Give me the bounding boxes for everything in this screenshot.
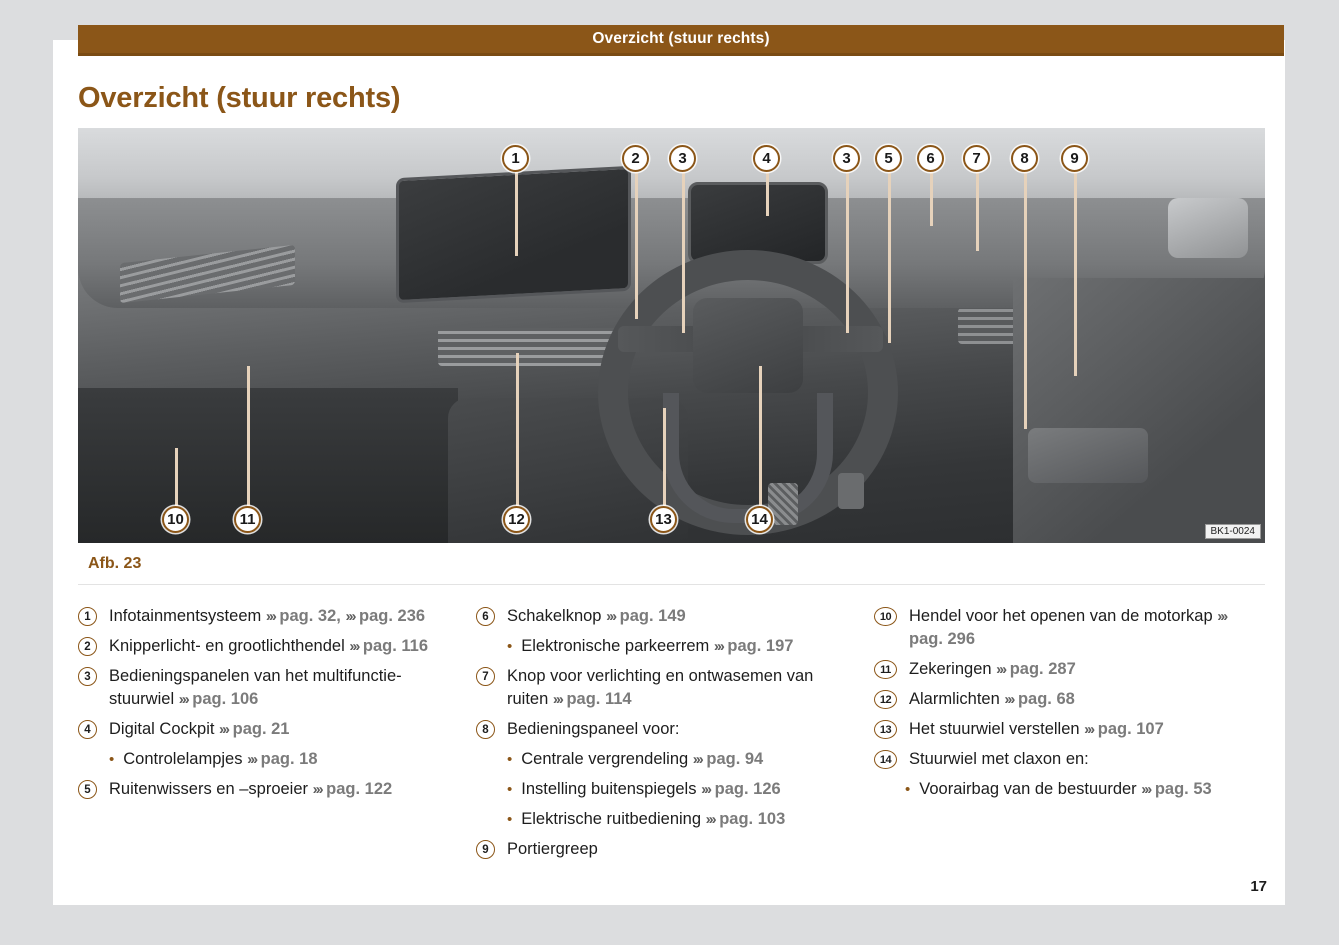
legend-sub-item-text: Instelling buitenspiegels ››› pag. 126 [521, 778, 780, 801]
figure-caption-text: Afb. 23 [78, 555, 141, 573]
legend-text: Hendel voor het openen van de motorkap [909, 607, 1217, 625]
legend-item-number: 8 [476, 720, 495, 739]
reference-arrows-icon: ››› [714, 638, 723, 655]
legend-text: Portiergreep [507, 840, 598, 858]
callout-bubble: 2 [622, 145, 649, 172]
callout-stem [247, 366, 250, 506]
page-reference: pag. 114 [562, 690, 632, 708]
running-header-bar: Overzicht (stuur rechts) [78, 25, 1284, 56]
manual-page: Overzicht (stuur rechts) Overzicht (stuu… [53, 40, 1285, 905]
legend-item-text: Alarmlichten ››› pag. 68 [909, 688, 1075, 711]
bullet-icon: • [109, 748, 114, 771]
reference-arrows-icon: ››› [349, 638, 358, 655]
callout-stem [663, 408, 666, 506]
page-title: Overzicht (stuur rechts) [78, 82, 400, 115]
callout-bubble: 4 [753, 145, 780, 172]
legend-column-3: 10Hendel voor het openen van de motorkap… [874, 605, 1272, 868]
callout-stem [515, 171, 518, 256]
legend-sub-item: •Controlelampjes ››› pag. 18 [109, 748, 458, 771]
legend-item-text: Hendel voor het openen van de motorkap ›… [909, 605, 1254, 651]
legend-text: Schakelknop [507, 607, 606, 625]
callout-stem [1024, 171, 1027, 429]
callout-bubble: 3 [669, 145, 696, 172]
reference-arrows-icon: ››› [247, 751, 256, 768]
legend-text: Het stuurwiel verstellen [909, 720, 1084, 738]
legend-item-text: Ruitenwissers en –sproeier ››› pag. 122 [109, 778, 392, 801]
page-reference: pag. 149 [615, 607, 686, 625]
illustration-code-label: BK1-0024 [1205, 524, 1261, 539]
legend-text: Controlelampjes [123, 750, 247, 768]
callout-bubble: 12 [503, 506, 530, 533]
legend-text: Digital Cockpit [109, 720, 219, 738]
legend-sub-item: •Voorairbag van de bestuurder ››› pag. 5… [905, 778, 1254, 801]
page-reference: pag. 68 [1013, 690, 1074, 708]
legend-text: Alarmlichten [909, 690, 1004, 708]
legend-item-text: Infotainmentsysteem ››› pag. 32, ››› pag… [109, 605, 425, 628]
callout-bubble: 10 [162, 506, 189, 533]
legend-item: 14Stuurwiel met claxon en: [874, 748, 1254, 771]
legend-item-number: 7 [476, 667, 495, 686]
reference-arrows-icon: ››› [701, 781, 710, 798]
legend-item-text: Stuurwiel met claxon en: [909, 748, 1089, 771]
callout-bubble: 1 [502, 145, 529, 172]
callout-bubble: 9 [1061, 145, 1088, 172]
legend-item-number: 10 [874, 607, 897, 626]
page-reference: pag. 106 [188, 690, 259, 708]
steering-wheel-lower-spoke-shape [663, 393, 833, 523]
callout-stem [682, 171, 685, 333]
callout-stem [635, 171, 638, 319]
running-header-title: Overzicht (stuur rechts) [592, 30, 769, 48]
callout-stem [759, 366, 762, 506]
callout-stem [930, 171, 933, 226]
callout-stem [846, 171, 849, 333]
figure-caption: Afb. 23 [78, 543, 1265, 585]
legend-text: Elektronische parkeerrem [521, 637, 714, 655]
page-reference: pag. 94 [702, 750, 763, 768]
legend-item-text: Het stuurwiel verstellen ››› pag. 107 [909, 718, 1164, 741]
legend-item-number: 11 [874, 660, 897, 679]
legend-text: Ruitenwissers en –sproeier [109, 780, 313, 798]
legend-text: Voorairbag van de bestuurder [919, 780, 1141, 798]
reference-arrows-icon: ››› [693, 751, 702, 768]
bullet-icon: • [507, 778, 512, 801]
legend-item-number: 13 [874, 720, 897, 739]
callout-bubble: 6 [917, 145, 944, 172]
reference-arrows-icon: ››› [313, 781, 322, 798]
callout-stem [766, 171, 769, 216]
door-control-panel-shape [1028, 428, 1148, 483]
bullet-icon: • [905, 778, 910, 801]
callout-bubble: 13 [650, 506, 677, 533]
legend-item: 3Bedieningspanelen van het multifunctie-… [78, 665, 458, 711]
legend-item: 7Knop voor verlichting en ontwasemen van… [476, 665, 856, 711]
reference-arrows-icon: ››› [553, 691, 562, 708]
door-panel-shape [1013, 278, 1265, 543]
steering-wheel-hub-shape [693, 298, 803, 393]
legend-item: 11Zekeringen ››› pag. 287 [874, 658, 1254, 681]
legend-sub-item: •Elektrische ruitbediening ››› pag. 103 [507, 808, 856, 831]
reference-arrows-icon: ››› [219, 721, 228, 738]
page-reference: pag. 103 [715, 810, 786, 828]
page-reference: pag. 21 [228, 720, 289, 738]
legend-item: 5Ruitenwissers en –sproeier ››› pag. 122 [78, 778, 458, 801]
figure: 1 2 3 4 3 5 6 [78, 128, 1265, 585]
legend-column-1: 1Infotainmentsysteem ››› pag. 32, ››› pa… [78, 605, 476, 868]
pedal-shape [838, 473, 864, 509]
page-reference: pag. 122 [322, 780, 393, 798]
legend-item-text: Bedieningspanelen van het multifunctie-s… [109, 665, 458, 711]
legend-item-number: 4 [78, 720, 97, 739]
callout-bubble: 8 [1011, 145, 1038, 172]
legend-sub-item-text: Controlelampjes ››› pag. 18 [123, 748, 317, 771]
legend-text: Instelling buitenspiegels [521, 780, 701, 798]
legend-column-2: 6Schakelknop ››› pag. 149•Elektronische … [476, 605, 874, 868]
legend-item-text: Portiergreep [507, 838, 598, 861]
legend-item-number: 12 [874, 690, 897, 709]
legend-item-number: 3 [78, 667, 97, 686]
footwell-shape [78, 388, 458, 543]
legend-sub-item: •Elektronische parkeerrem ››› pag. 197 [507, 635, 856, 658]
callout-bubble: 11 [234, 506, 261, 533]
legend-sub-item: •Centrale vergrendeling ››› pag. 94 [507, 748, 856, 771]
reference-arrows-icon: ››› [706, 811, 715, 828]
legend-item-number: 1 [78, 607, 97, 626]
legend-item-number: 2 [78, 637, 97, 656]
reference-arrows-icon: ››› [266, 608, 275, 625]
legend-item: 2Knipperlicht- en grootlichthendel ››› p… [78, 635, 458, 658]
callout-bubble: 7 [963, 145, 990, 172]
callout-stem [1074, 171, 1077, 376]
legend-item: 12Alarmlichten ››› pag. 68 [874, 688, 1254, 711]
legend-sub-item-text: Elektronische parkeerrem ››› pag. 197 [521, 635, 793, 658]
page-reference: pag. 116 [358, 637, 428, 655]
exterior-mirror-shape [1168, 198, 1248, 258]
legend-text: Centrale vergrendeling [521, 750, 693, 768]
legend-sub-item-text: Centrale vergrendeling ››› pag. 94 [521, 748, 763, 771]
reference-arrows-icon: ››› [1217, 608, 1226, 625]
callout-stem [516, 353, 519, 506]
legend-item-number: 9 [476, 840, 495, 859]
legend-item-number: 5 [78, 780, 97, 799]
reference-arrows-icon: ››› [996, 661, 1005, 678]
legend-item: 8Bedieningspaneel voor: [476, 718, 856, 741]
page-number: 17 [1250, 878, 1267, 895]
page-reference: pag. 107 [1093, 720, 1164, 738]
legend-item-text: Knop voor verlichting en ontwasemen van … [507, 665, 856, 711]
page-reference: pag. 287 [1005, 660, 1076, 678]
page-reference: pag. 18 [256, 750, 317, 768]
legend-list: 1Infotainmentsysteem ››› pag. 32, ››› pa… [78, 605, 1273, 868]
bullet-icon: • [507, 635, 512, 658]
legend-item: 6Schakelknop ››› pag. 149 [476, 605, 856, 628]
page-reference: pag. 32, [275, 607, 341, 625]
page-reference: pag. 296 [909, 630, 975, 648]
legend-sub-item-text: Voorairbag van de bestuurder ››› pag. 53 [919, 778, 1211, 801]
legend-text: Knipperlicht- en grootlichthendel [109, 637, 349, 655]
reference-arrows-icon: ››› [606, 608, 615, 625]
legend-sub-item: •Instelling buitenspiegels ››› pag. 126 [507, 778, 856, 801]
legend-text: Zekeringen [909, 660, 996, 678]
legend-text: Bedieningspaneel voor: [507, 720, 679, 738]
legend-text: Infotainmentsysteem [109, 607, 266, 625]
callout-stem [888, 171, 891, 343]
page-reference: pag. 53 [1150, 780, 1211, 798]
page-reference: pag. 126 [710, 780, 781, 798]
page-reference: pag. 236 [354, 607, 425, 625]
reference-arrows-icon: ››› [179, 691, 188, 708]
legend-item-text: Bedieningspaneel voor: [507, 718, 679, 741]
legend-item: 9Portiergreep [476, 838, 856, 861]
legend-item-number: 6 [476, 607, 495, 626]
air-vent-center-shape [438, 328, 618, 366]
callout-stem [976, 171, 979, 251]
callout-bubble: 3 [833, 145, 860, 172]
infotainment-screen-shape [396, 166, 631, 303]
legend-item-text: Zekeringen ››› pag. 287 [909, 658, 1076, 681]
legend-item-text: Digital Cockpit ››› pag. 21 [109, 718, 290, 741]
bullet-icon: • [507, 748, 512, 771]
callout-bubble: 14 [746, 506, 773, 533]
bullet-icon: • [507, 808, 512, 831]
legend-item-number: 14 [874, 750, 897, 769]
reference-arrows-icon: ››› [1141, 781, 1150, 798]
page-reference: pag. 197 [723, 637, 794, 655]
legend-item: 1Infotainmentsysteem ››› pag. 32, ››› pa… [78, 605, 458, 628]
legend-text: Stuurwiel met claxon en: [909, 750, 1089, 768]
legend-item-text: Schakelknop ››› pag. 149 [507, 605, 686, 628]
legend-item-text: Knipperlicht- en grootlichthendel ››› pa… [109, 635, 428, 658]
legend-item: 4Digital Cockpit ››› pag. 21 [78, 718, 458, 741]
legend-item: 10Hendel voor het openen van de motorkap… [874, 605, 1254, 651]
legend-sub-item-text: Elektrische ruitbediening ››› pag. 103 [521, 808, 785, 831]
callout-bubble: 5 [875, 145, 902, 172]
legend-text: Elektrische ruitbediening [521, 810, 705, 828]
legend-item: 13Het stuurwiel verstellen ››› pag. 107 [874, 718, 1254, 741]
callout-stem [175, 448, 178, 506]
cockpit-illustration: 1 2 3 4 3 5 6 [78, 128, 1265, 543]
reference-arrows-icon: ››› [1084, 721, 1093, 738]
